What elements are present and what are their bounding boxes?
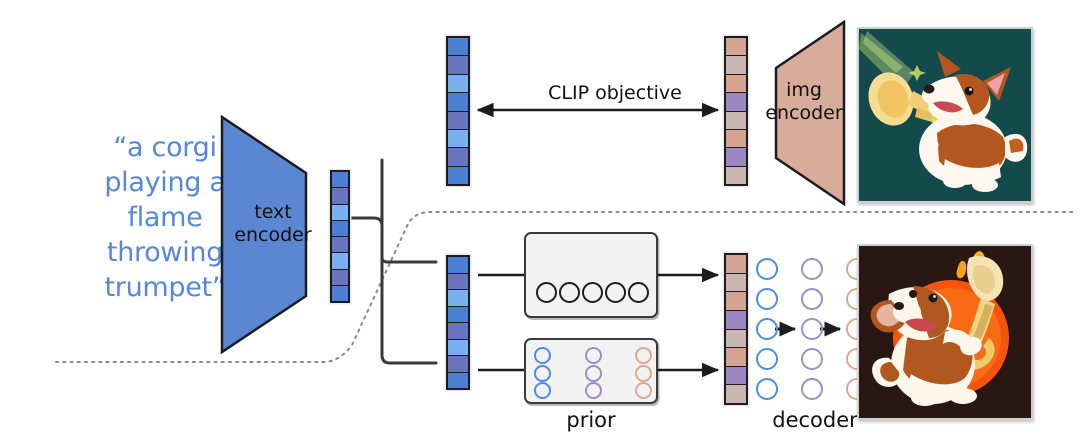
text-embedding-cell-3 [332,221,348,237]
text-embedding-prior-cell-1 [448,274,468,291]
diffusion-prior-node-0-2 [534,382,551,399]
text-embedding-prior-cell-5 [448,340,468,357]
diffusion-prior-node-2-1 [635,365,652,382]
decoder-node-1-1 [801,288,823,310]
text-embedding-prior-cell-6 [448,356,468,373]
text-embedding-clip-cell-2 [448,75,468,93]
text-embedding-prior-cell-3 [448,307,468,324]
image-embedding-clip-cell-5 [726,130,746,148]
text-embedding-prior-cell-4 [448,323,468,340]
text-embedding-clip-cell-6 [448,148,468,166]
img-encoder: img encoder [762,22,846,204]
autoregressive-node-4 [628,282,649,303]
prior-caption: prior [520,408,662,432]
text-embedding-prior-cell-2 [448,290,468,307]
text-embedding-prior-cell-7 [448,373,468,389]
text-embedding-cell-2 [332,205,348,221]
image-embedding-decoder-cell-0 [726,255,746,274]
image-embedding-clip-cell-6 [726,148,746,166]
image-embedding-decoder-cell-2 [726,292,746,311]
image-embedding-decoder-cell-1 [726,274,746,293]
text-embedding-cell-6 [332,270,348,286]
img-encoder-label-line1: img [762,79,846,102]
autoregressive-node-3 [605,282,626,303]
decoder-node-0-3 [756,348,778,370]
clip-training-image [857,27,1033,203]
text-embedding-cell-1 [332,188,348,204]
text-embedding-clip-cell-4 [448,112,468,130]
image-embedding-decoder-cell-3 [726,311,746,330]
text-embedding-cell-4 [332,237,348,253]
diffusion-prior-node-2-2 [635,382,652,399]
diffusion-prior-columns [534,347,652,399]
branch-upper-stub [382,226,436,262]
text-embedding-clip-cell-5 [448,130,468,148]
decoder-node-1-2 [801,318,823,340]
text-embedding-cell-5 [332,253,348,269]
autoregressive-node-2 [582,282,603,303]
image-embedding-decoder-cell-4 [726,330,746,349]
diffusion-prior-node-1-2 [585,382,602,399]
diffusion-prior-column-1 [585,347,602,399]
decoder-node-1-3 [801,348,823,370]
text-embedding-clip-cell-7 [448,167,468,184]
diffusion-prior-box [524,338,658,404]
autoregressive-node-1 [559,282,580,303]
text-encoder-label-line2: encoder [222,224,324,247]
image-embedding-clip-cell-1 [726,56,746,74]
text-encoder-label-line1: text [222,201,324,224]
text-embedding-vector-main [330,170,350,303]
autoregressive-prior-box [524,232,658,318]
corgi-flame-trumpet-illustration [859,246,1033,420]
decoder-node-0-1 [756,288,778,310]
decoder-node-0-4 [756,378,778,400]
autoregressive-node-row [536,282,649,303]
text-embedding-cell-0 [332,172,348,188]
image-embedding-decoder-cell-5 [726,348,746,367]
text-embedding-cell-7 [332,286,348,301]
decoder-column-0 [756,258,778,400]
image-embedding-vector-clip [724,36,748,186]
diffusion-prior-column-0 [534,347,551,399]
img-encoder-label-line2: encoder [762,102,846,125]
text-embedding-clip-cell-1 [448,56,468,74]
decoder-column-1 [801,258,823,400]
corgi-trumpet-teal-illustration [859,29,1033,203]
image-embedding-vector-decoder-input [724,253,748,405]
decoder-node-1-4 [801,378,823,400]
decoder-node-0-2 [756,318,778,340]
generated-sample-image [857,244,1033,420]
diffusion-prior-node-1-1 [585,365,602,382]
text-encoder: text encoder [222,117,324,352]
image-embedding-clip-cell-4 [726,112,746,130]
autoregressive-node-0 [536,282,557,303]
text-embedding-clip-cell-3 [448,93,468,111]
diffusion-prior-node-1-0 [585,347,602,364]
text-embedding-vector-clip [446,36,470,186]
decoder-node-0-0 [756,258,778,280]
diffusion-prior-node-0-1 [534,365,551,382]
diffusion-prior-node-2-0 [635,347,652,364]
text-embedding-vector-prior-input [446,255,470,390]
clip-objective-label: CLIP objective [500,82,730,104]
decoder-columns [756,258,868,400]
image-embedding-clip-cell-0 [726,38,746,56]
text-embedding-prior-cell-0 [448,257,468,274]
text-embedding-clip-cell-0 [448,38,468,56]
decoder-node-1-0 [801,258,823,280]
diffusion-prior-node-0-0 [534,347,551,364]
image-embedding-decoder-cell-7 [726,385,746,403]
image-embedding-decoder-cell-6 [726,367,746,386]
unclip-architecture-diagram: “a corgi playing a flame throwing trumpe… [0,0,1080,445]
diffusion-prior-column-2 [635,347,652,399]
image-embedding-clip-cell-7 [726,167,746,184]
